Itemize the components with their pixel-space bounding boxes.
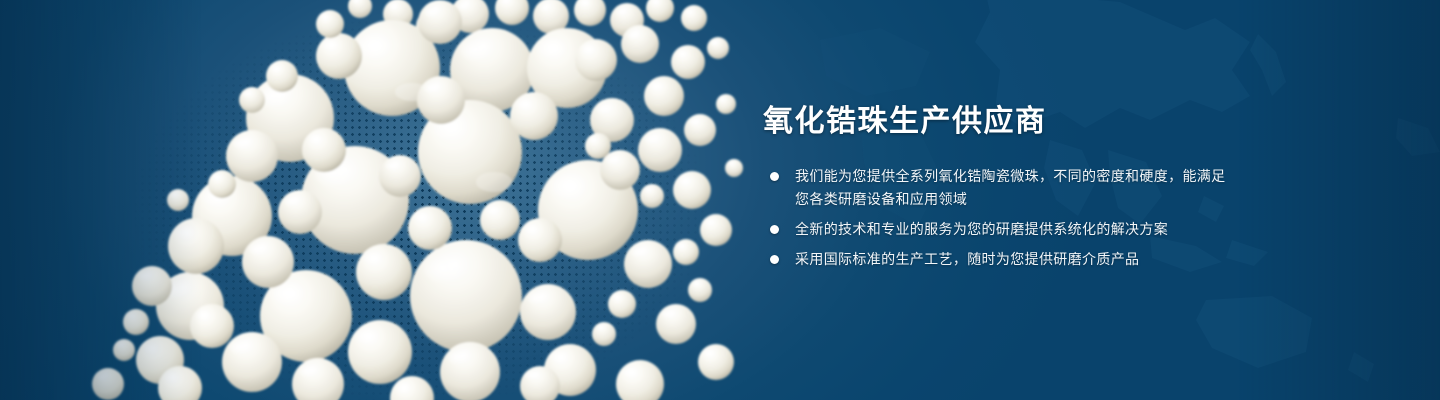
list-item-text: 我们能为您提供全系列氧化锆陶瓷微珠，不同的密度和硬度，能满足您各类研磨设备和应用… [795,165,1233,211]
bullet-dot-icon [770,255,779,264]
list-item: 全新的技术和专业的服务为您的研磨提供系统化的解决方案 [763,218,1233,241]
bullet-dot-icon [770,172,779,181]
hero-banner: 氧化锆珠生产供应商 我们能为您提供全系列氧化锆陶瓷微珠，不同的密度和硬度，能满足… [0,0,1440,400]
banner-copy: 氧化锆珠生产供应商 我们能为您提供全系列氧化锆陶瓷微珠，不同的密度和硬度，能满足… [763,104,1233,271]
feature-list: 我们能为您提供全系列氧化锆陶瓷微珠，不同的密度和硬度，能满足您各类研磨设备和应用… [763,165,1233,271]
list-item-text: 全新的技术和专业的服务为您的研磨提供系统化的解决方案 [795,218,1233,241]
bullet-dot-icon [770,225,779,234]
list-item: 我们能为您提供全系列氧化锆陶瓷微珠，不同的密度和硬度，能满足您各类研磨设备和应用… [763,165,1233,211]
page-title: 氧化锆珠生产供应商 [763,104,1233,139]
list-item-text: 采用国际标准的生产工艺，随时为您提供研磨介质产品 [795,248,1233,271]
list-item: 采用国际标准的生产工艺，随时为您提供研磨介质产品 [763,248,1233,271]
